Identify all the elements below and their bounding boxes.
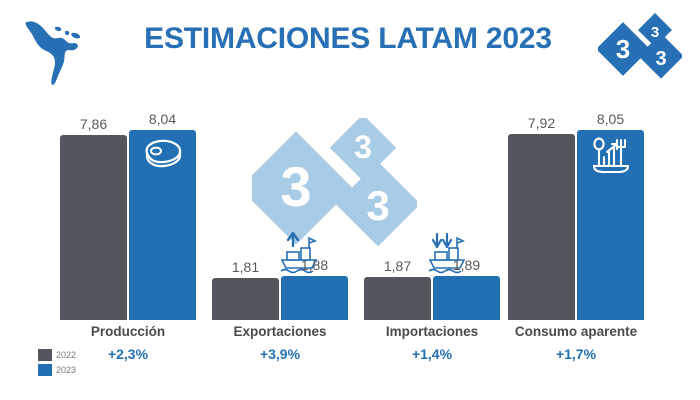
bars-container: 7,86 8,04 xyxy=(58,96,198,320)
group-label: Importaciones xyxy=(386,324,478,339)
group-delta-label: +1,7% xyxy=(556,346,596,362)
bar-value-label: 1,87 xyxy=(384,258,411,274)
bar-2022[interactable]: 7,92 xyxy=(508,134,575,320)
legend-label: 2022 xyxy=(56,350,76,360)
bar-2022[interactable]: 7,86 xyxy=(60,135,127,320)
bar-2023[interactable]: 8,05 xyxy=(577,130,644,320)
group-delta-label: +3,9% xyxy=(260,346,300,362)
bar-value-label: 8,05 xyxy=(597,111,624,127)
bar-2022[interactable]: 1,81 xyxy=(212,278,279,320)
bars-container: 1,87 1,89 xyxy=(362,96,502,320)
bar-value-label: 7,86 xyxy=(80,116,107,132)
logo-digit-large: 3 xyxy=(616,34,630,64)
legend-swatch-icon xyxy=(38,349,52,361)
bar-group-consumo-aparente: 7,92 8,05 xyxy=(506,96,646,320)
bar-2023[interactable]: 8,04 xyxy=(129,130,196,320)
latin-america-map-icon xyxy=(22,12,88,86)
group-label: Producción xyxy=(91,324,165,339)
group-label: Exportaciones xyxy=(233,324,326,339)
bars-container: 1,81 1,88 xyxy=(210,96,350,320)
legend-item-2022[interactable]: 2022 xyxy=(38,348,128,361)
logo-digit-small: 3 xyxy=(651,24,659,41)
group-delta-label: +1,4% xyxy=(412,346,452,362)
bar-group-produccion: 7,86 8,04 Producción +2,3% xyxy=(58,96,198,320)
legend-label: 2023 xyxy=(56,365,76,375)
bar-2023[interactable]: 1,89 xyxy=(433,276,500,320)
bar-value-label: 7,92 xyxy=(528,115,555,131)
bar-value-label: 1,88 xyxy=(301,257,328,273)
group-label: Consumo aparente xyxy=(515,324,637,339)
bar-group-importaciones: 1,87 1,89 Importaciones +1,4% xyxy=(362,96,502,320)
bars-container: 7,92 8,05 xyxy=(506,96,646,320)
legend-swatch-icon xyxy=(38,364,52,376)
bar-value-label: 8,04 xyxy=(149,111,176,127)
bar-2023[interactable]: 1,88 xyxy=(281,276,348,320)
page-title: ESTIMACIONES LATAM 2023 xyxy=(108,22,588,56)
bar-2022[interactable]: 1,87 xyxy=(364,277,431,320)
plate-cutlery-chart-icon xyxy=(590,135,632,175)
chart-legend: 2022 2023 xyxy=(38,348,128,378)
bar-value-label: 1,89 xyxy=(453,257,480,273)
logo-digit-medium: 3 xyxy=(655,48,666,70)
meat-cut-icon xyxy=(142,135,184,175)
header-bar: ESTIMACIONES LATAM 2023 3 3 3 xyxy=(0,0,700,96)
bar-group-exportaciones: 1,81 1,88 Exportaciones +3,9% xyxy=(210,96,350,320)
legend-item-2023[interactable]: 2023 xyxy=(38,363,128,376)
bar-value-label: 1,81 xyxy=(232,259,259,275)
three-diamonds-logo: 3 3 3 xyxy=(598,12,682,84)
